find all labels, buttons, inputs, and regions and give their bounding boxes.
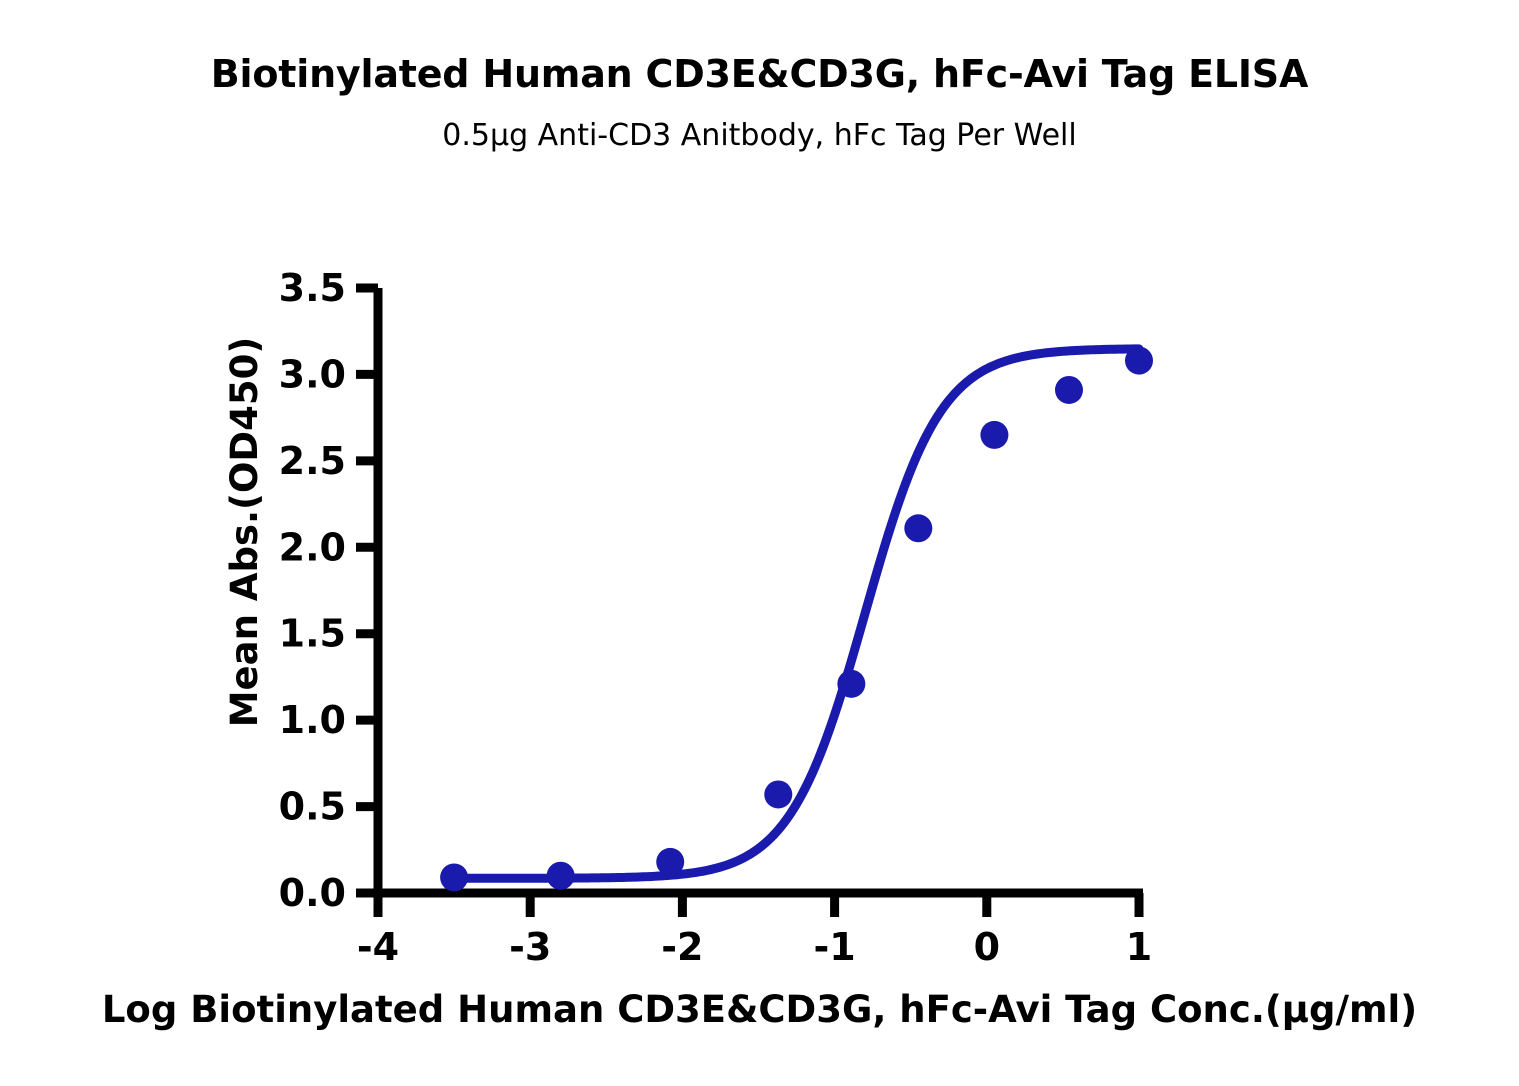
x-tick-labels: -4-3-2-101 (357, 925, 1152, 969)
y-tick-label: 2.0 (279, 525, 346, 569)
axes-group (374, 288, 1143, 893)
x-tick-label: -2 (661, 925, 703, 969)
x-tick-label: 1 (1126, 925, 1152, 969)
data-point (980, 421, 1008, 449)
y-tick-labels: 0.00.51.01.52.02.53.03.5 (279, 266, 346, 915)
data-point (764, 780, 792, 808)
y-tick-label: 0.0 (279, 871, 346, 915)
data-point (837, 670, 865, 698)
x-tick-label: -4 (357, 925, 399, 969)
data-point (440, 863, 468, 891)
elisa-chart-figure: Biotinylated Human CD3E&CD3G, hFc-Avi Ta… (0, 0, 1519, 1086)
x-axis-label: Log Biotinylated Human CD3E&CD3G, hFc-Av… (0, 988, 1519, 1031)
y-tick-label: 3.0 (279, 352, 346, 396)
y-tick-label: 1.5 (279, 612, 346, 656)
y-axis-label: Mean Abs.(OD450) (222, 252, 268, 812)
data-point (547, 862, 575, 890)
data-point (904, 514, 932, 542)
y-tick-label: 2.5 (279, 439, 346, 483)
dose-response-curve (454, 349, 1139, 878)
data-point (656, 848, 684, 876)
x-tick-label: 0 (974, 925, 1000, 969)
data-point (1125, 347, 1153, 375)
data-point (1055, 376, 1083, 404)
x-tick-label: -1 (813, 925, 855, 969)
y-tick-label: 1.0 (279, 698, 346, 742)
x-tick-label: -3 (509, 925, 551, 969)
y-tick-label: 3.5 (279, 266, 346, 310)
y-tick-label: 0.5 (279, 785, 346, 829)
